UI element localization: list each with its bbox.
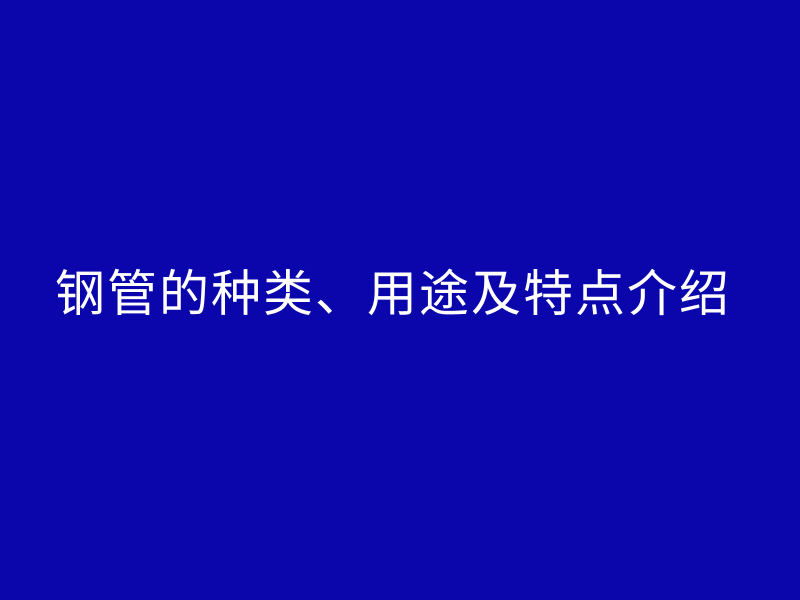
- slide-title: 钢管的种类、用途及特点介绍: [55, 267, 745, 321]
- title-slide: 钢管的种类、用途及特点介绍: [0, 0, 800, 600]
- title-block: 钢管的种类、用途及特点介绍: [0, 0, 800, 600]
